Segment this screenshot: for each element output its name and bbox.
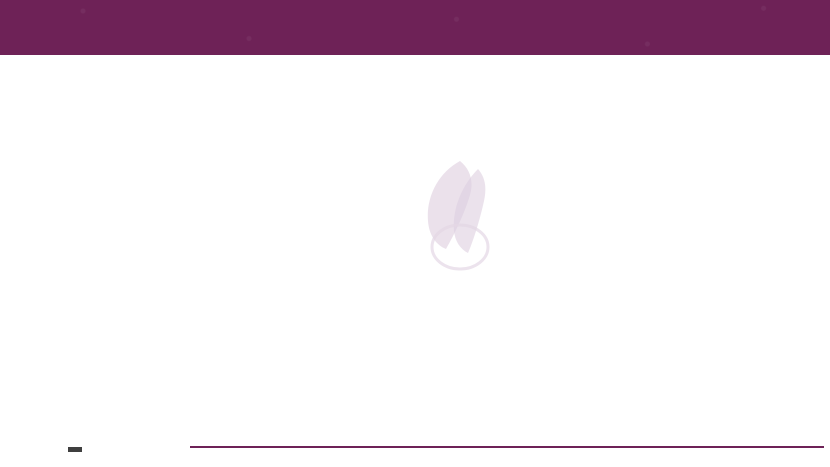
brand-watermark bbox=[398, 143, 603, 273]
timeline-axis bbox=[0, 446, 830, 467]
page-header bbox=[0, 0, 830, 55]
aest-note bbox=[68, 447, 82, 452]
feather-logo-icon bbox=[398, 143, 603, 273]
axis-line bbox=[190, 446, 824, 448]
